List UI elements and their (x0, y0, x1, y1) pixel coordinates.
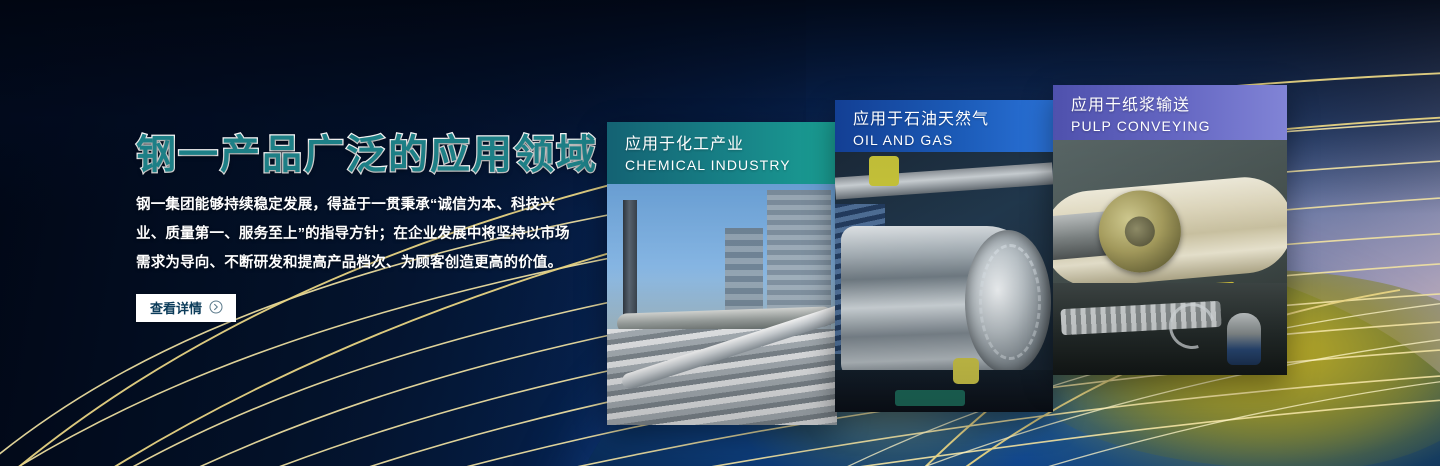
card-photo-oilgas (835, 152, 1053, 412)
card-title-en-chemical: CHEMICAL INDUSTRY (625, 156, 837, 175)
card-title-cn-chemical: 应用于化工产业 (625, 134, 837, 156)
card-header-oilgas: 应用于石油天然气 OIL AND GAS (835, 100, 1053, 152)
card-header-pulp: 应用于纸浆输送 PULP CONVEYING (1053, 85, 1287, 140)
hero-banner: 钢一产品广泛的应用领域 钢一集团能够持续稳定发展，得益于一贯秉承“诚信为本、科技… (0, 0, 1440, 466)
application-card-pulp[interactable]: 应用于纸浆输送 PULP CONVEYING (1053, 85, 1287, 375)
card-header-chemical: 应用于化工产业 CHEMICAL INDUSTRY (607, 122, 837, 184)
hero-copy-block: 钢一产品广泛的应用领域 钢一集团能够持续稳定发展，得益于一贯秉承“诚信为本、科技… (136, 134, 606, 322)
circle-arrow-right-icon (209, 300, 223, 316)
photo-vignette (607, 184, 837, 425)
card-title-en-pulp: PULP CONVEYING (1071, 117, 1287, 136)
hero-description: 钢一集团能够持续稳定发展，得益于一贯秉承“诚信为本、科技兴业、质量第一、服务至上… (136, 191, 584, 278)
application-card-chemical[interactable]: 应用于化工产业 CHEMICAL INDUSTRY (607, 122, 837, 425)
photo-vignette (835, 152, 1053, 412)
card-title-cn-oilgas: 应用于石油天然气 (853, 109, 1053, 131)
card-photo-pulp (1053, 140, 1287, 375)
view-details-button[interactable]: 查看详情 (136, 294, 236, 322)
card-title-cn-pulp: 应用于纸浆输送 (1071, 95, 1287, 117)
photo-vignette (1053, 140, 1287, 375)
application-card-oilgas[interactable]: 应用于石油天然气 OIL AND GAS (835, 100, 1053, 412)
card-photo-chemical (607, 184, 837, 425)
view-details-label: 查看详情 (150, 302, 202, 315)
card-title-en-oilgas: OIL AND GAS (853, 131, 1053, 150)
page-title: 钢一产品广泛的应用领域 (136, 134, 606, 177)
